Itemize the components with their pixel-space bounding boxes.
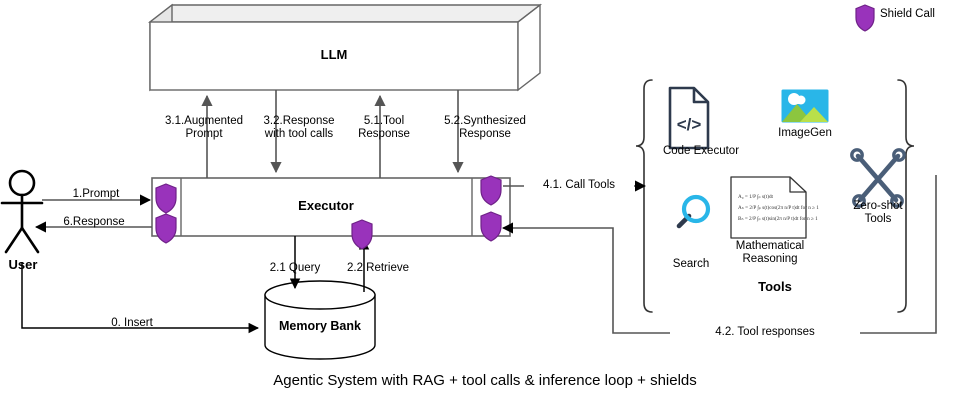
- memory-bank-label: Memory Bank: [265, 320, 375, 333]
- diagram-canvas: </> A₀ = 1/P ∫ₚ s(t)dt Aₙ = 2/P ∫ₚ s(t): [0, 0, 970, 411]
- edge-label-query: 2.1 Query: [252, 262, 338, 275]
- code-document-icon[interactable]: </>: [670, 88, 708, 148]
- user-actor[interactable]: [2, 171, 42, 252]
- svg-text:</>: </>: [677, 115, 702, 134]
- user-label: User: [0, 258, 46, 271]
- edge-label-call-tools: 4.1. Call Tools: [524, 179, 634, 192]
- tool-label-search: Search: [656, 258, 726, 271]
- tools-group-label: Tools: [730, 280, 820, 293]
- edge-label-tool-response: 5.1.Tool Response: [334, 115, 434, 141]
- executor-memory-shield: [352, 220, 372, 249]
- diagram-vector-layer: </> A₀ = 1/P ∫ₚ s(t)dt Aₙ = 2/P ∫ₚ s(t): [0, 0, 970, 411]
- svg-text:Bₙ = 2/P ∫ₚ s(t)sin(2π n/P t)d: Bₙ = 2/P ∫ₚ s(t)sin(2π n/P t)dt for n ≥ …: [738, 215, 818, 222]
- llm-label: LLM: [264, 48, 404, 61]
- executor-in-shield-2: [156, 214, 176, 243]
- image-icon[interactable]: [780, 88, 830, 124]
- edge-label-tool-responses: 4.2. Tool responses: [670, 326, 860, 339]
- svg-text:A₀ = 1/P ∫ₚ s(t)dt: A₀ = 1/P ∫ₚ s(t)dt: [738, 193, 774, 200]
- executor-label: Executor: [256, 199, 396, 212]
- edge-label-retrieve: 2.2 Retrieve: [332, 262, 424, 275]
- diagram-caption: Agentic System with RAG + tool calls & i…: [0, 372, 970, 389]
- tool-label-math-reasoning: Mathematical Reasoning: [718, 240, 822, 266]
- tool-label-imagegen: ImageGen: [770, 127, 840, 140]
- edge-label-prompt: 1.Prompt: [42, 188, 150, 201]
- edge-label-insert: 0. Insert: [78, 317, 186, 330]
- edge-label-synthesized-response: 5.2.Synthesized Response: [420, 115, 550, 141]
- legend-shield-icon: [856, 5, 874, 31]
- magnifier-icon[interactable]: [679, 197, 708, 226]
- crossed-wrenches-icon[interactable]: [852, 150, 904, 206]
- legend-shield-label: Shield Call: [880, 8, 966, 21]
- tool-label-code-executor: Code Executor: [652, 145, 750, 158]
- svg-text:Aₙ = 2/P ∫ₚ s(t)cos(2π n/P t)d: Aₙ = 2/P ∫ₚ s(t)cos(2π n/P t)dt for n ≥ …: [738, 204, 819, 211]
- formula-document-icon[interactable]: A₀ = 1/P ∫ₚ s(t)dt Aₙ = 2/P ∫ₚ s(t)cos(2…: [731, 177, 819, 238]
- edge-label-response: 6.Response: [40, 216, 148, 229]
- tool-label-zero-shot-tools: Zero-shot Tools: [840, 200, 916, 226]
